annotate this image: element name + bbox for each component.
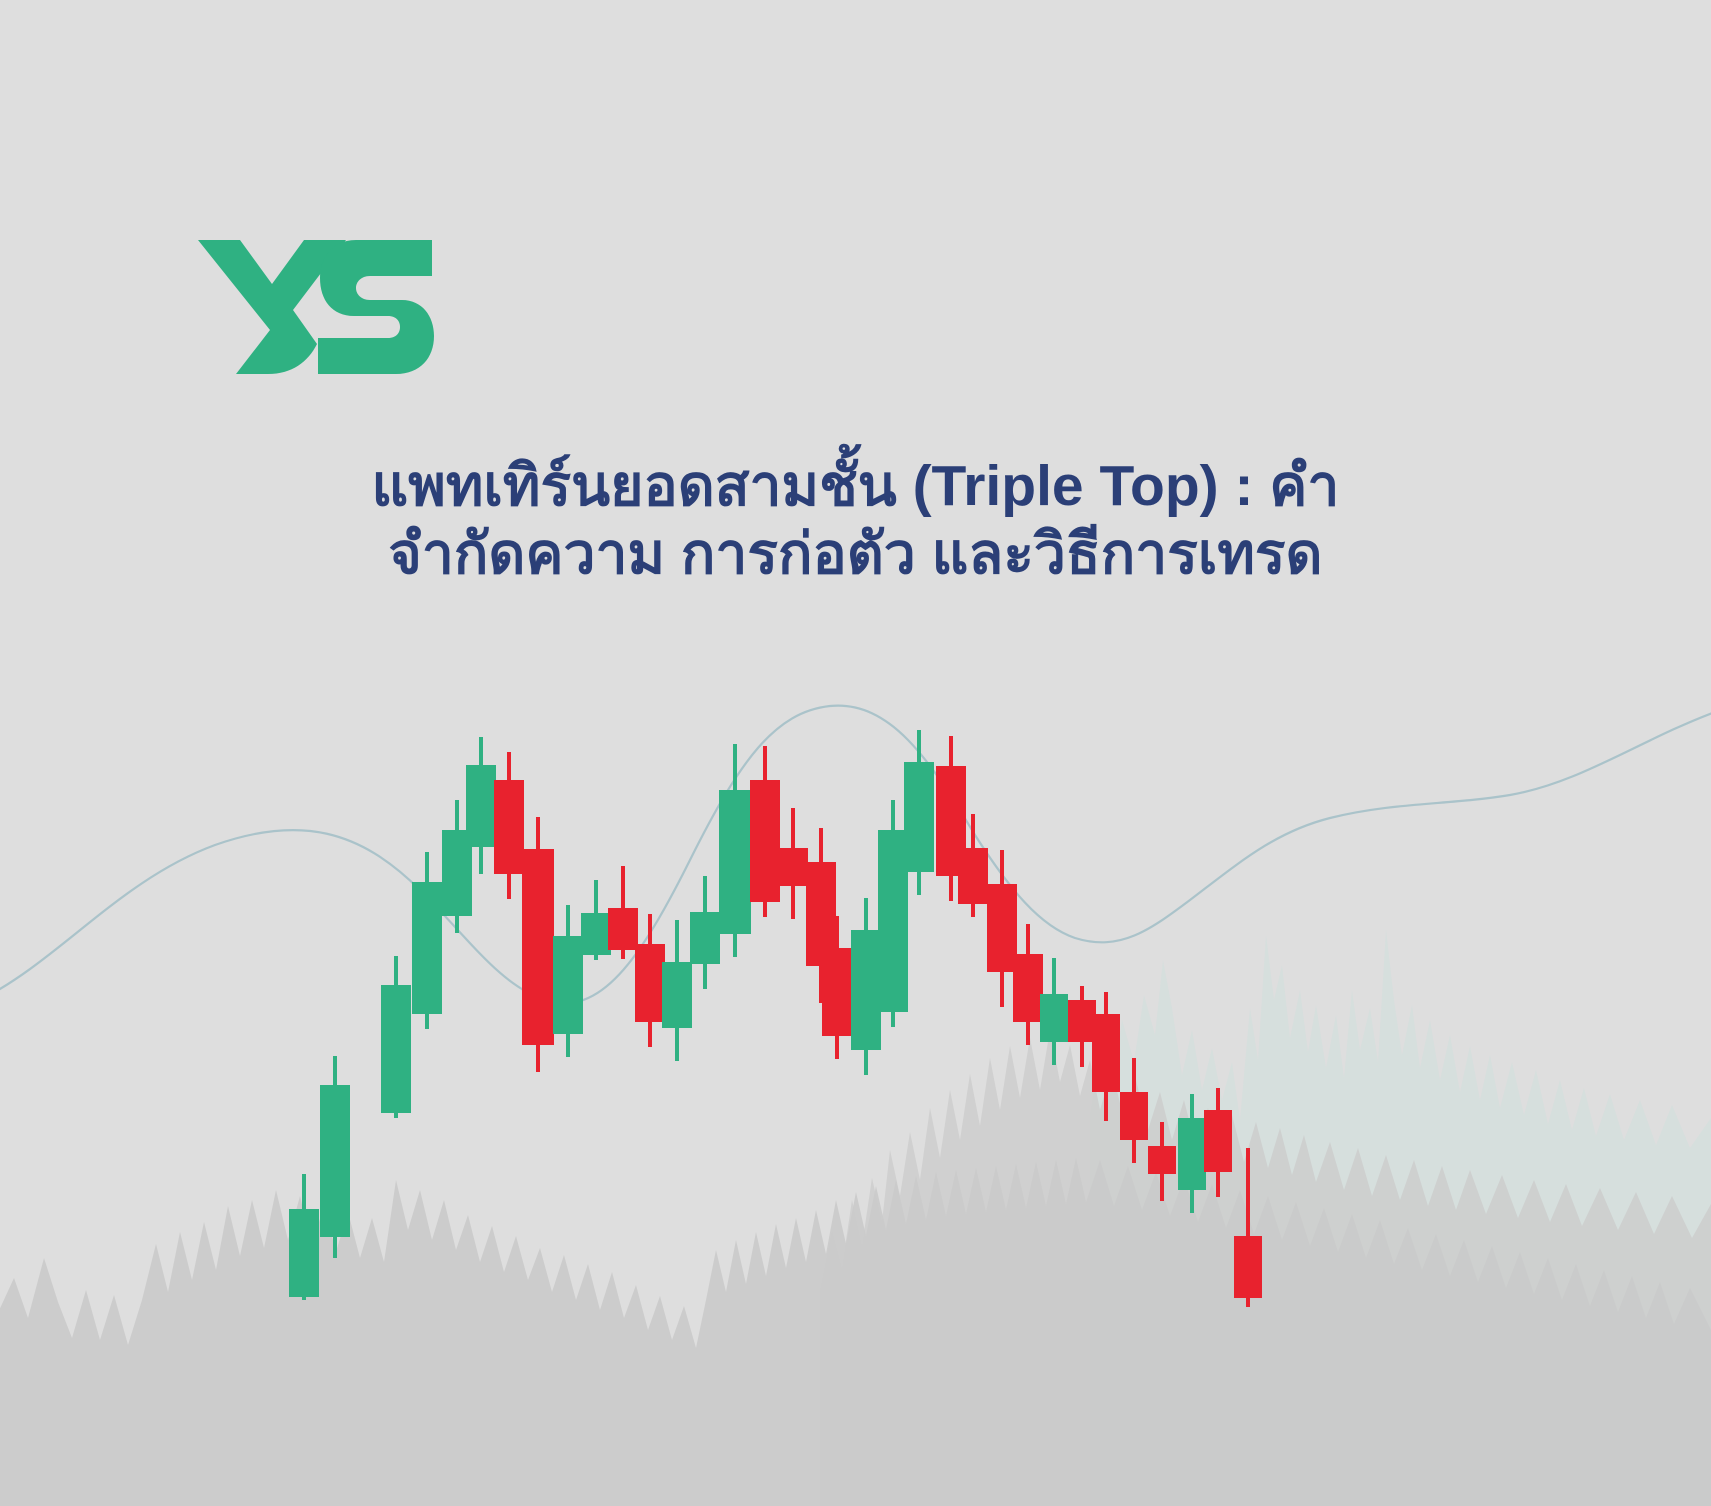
candle-up <box>581 880 611 960</box>
candle-down <box>1068 986 1096 1067</box>
candle-up <box>851 898 881 1075</box>
candle-up <box>381 956 411 1118</box>
candle-up <box>690 876 720 989</box>
candle-up <box>1040 958 1068 1065</box>
candle-up <box>878 800 908 1027</box>
candle-down <box>987 850 1017 1007</box>
candlestick-chart <box>0 0 1711 1506</box>
candle-up <box>553 905 583 1057</box>
candle-up <box>289 1174 319 1300</box>
candle-up <box>719 744 751 957</box>
candle-down <box>750 746 780 917</box>
xs-logo[interactable] <box>196 232 436 382</box>
poster-canvas: แพทเทิร์นยอดสามชั้น (Triple Top) : คำ จำ… <box>0 0 1711 1506</box>
candle-down <box>635 914 665 1047</box>
candle-down <box>778 808 808 919</box>
candle-up <box>662 920 692 1061</box>
xs-logo-glyph <box>198 240 434 374</box>
candle-up <box>412 852 442 1029</box>
candle-down <box>522 817 554 1072</box>
candle-down <box>1013 924 1043 1045</box>
candle-down <box>494 752 524 899</box>
candle-up <box>320 1056 350 1258</box>
candle-down <box>608 866 638 959</box>
candle-up <box>904 730 934 895</box>
